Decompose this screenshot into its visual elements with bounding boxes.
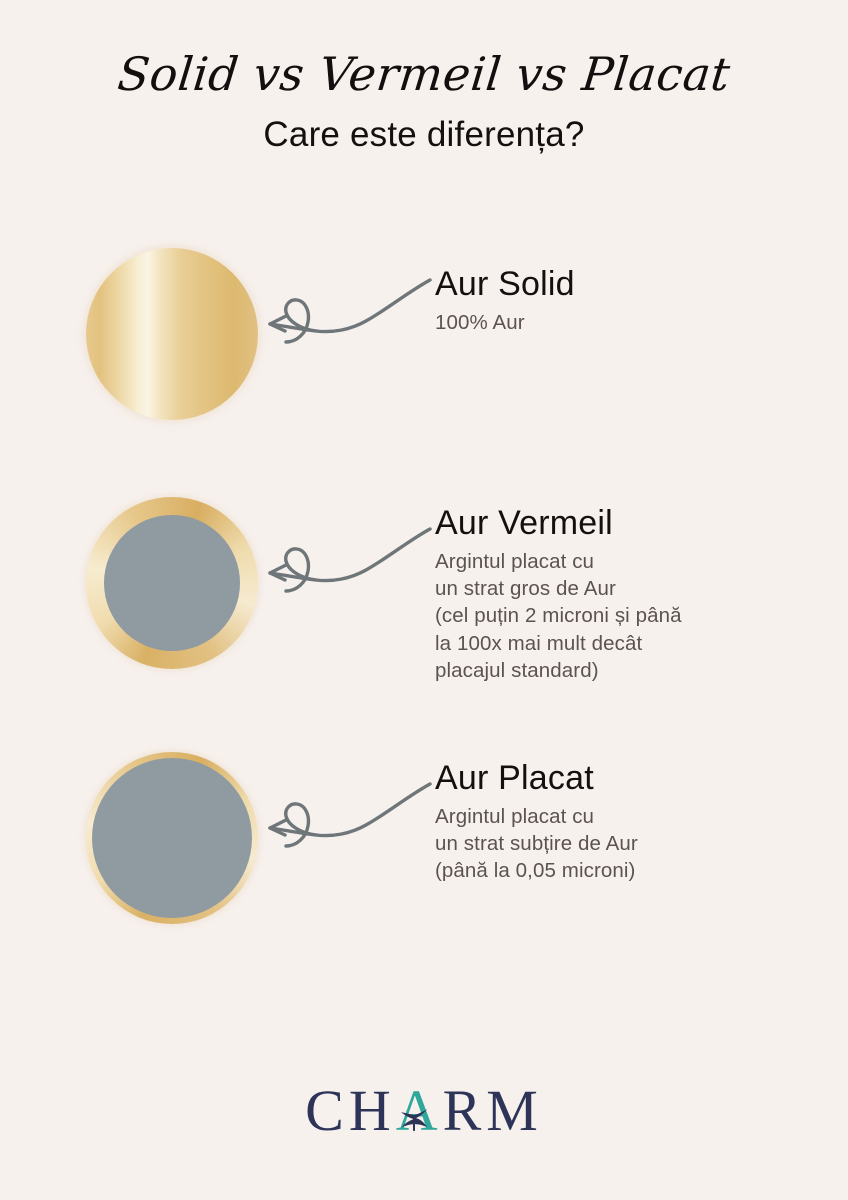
desc-line: un strat gros de Aur <box>435 575 835 602</box>
item-heading-placat: Aur Placat <box>435 760 835 797</box>
item-heading-vermeil: Aur Vermeil <box>435 505 835 542</box>
desc-line: 100% Aur <box>435 309 835 336</box>
thin-gold-ring-disc <box>86 752 258 924</box>
poster-header: Solid vs Vermeil vs Placat Care este dif… <box>0 48 848 155</box>
brand-logo: CHARM <box>0 1082 848 1140</box>
page-subtitle: Care este diferența? <box>0 115 848 155</box>
logo-mark: CHARM <box>305 1082 543 1140</box>
item-desc-placat: Argintul placat cu un strat subțire de A… <box>435 803 835 884</box>
item-desc-vermeil: Argintul placat cu un strat gros de Aur … <box>435 548 835 683</box>
silver-core-graphic <box>92 758 252 918</box>
infographic-poster: Solid vs Vermeil vs Placat Care este dif… <box>0 0 848 1200</box>
item-heading-solid: Aur Solid <box>435 266 835 303</box>
solid-text-block: Aur Solid 100% Aur <box>435 266 835 336</box>
logo-letter-c: C <box>305 1078 349 1143</box>
desc-line: la 100x mai mult decât <box>435 630 835 657</box>
desc-line: (cel puțin 2 microni și până <box>435 602 835 629</box>
gold-ring-graphic <box>86 497 258 669</box>
page-title: Solid vs Vermeil vs Placat <box>0 48 848 101</box>
desc-line: placajul standard) <box>435 657 835 684</box>
logo-letter-a: A <box>396 1078 443 1143</box>
thick-gold-ring-disc <box>86 497 258 669</box>
comparison-row-vermeil: Aur Vermeil Argintul placat cu un strat … <box>0 487 848 687</box>
gold-disc-graphic <box>86 248 258 420</box>
placat-text-block: Aur Placat Argintul placat cu un strat s… <box>435 760 835 885</box>
desc-line: un strat subțire de Aur <box>435 830 835 857</box>
logo-letter-h: H <box>349 1078 396 1143</box>
curved-arrow-icon <box>258 266 438 371</box>
vermeil-text-block: Aur Vermeil Argintul placat cu un strat … <box>435 505 835 684</box>
solid-gold-disc <box>86 248 258 420</box>
logo-letter-m: M <box>486 1078 543 1143</box>
comparison-row-placat: Aur Placat Argintul placat cu un strat s… <box>0 742 848 942</box>
desc-line: Argintul placat cu <box>435 803 835 830</box>
gold-ring-graphic <box>86 752 258 924</box>
item-desc-solid: 100% Aur <box>435 309 835 336</box>
curved-arrow-icon <box>258 515 438 620</box>
desc-line: (până la 0,05 microni) <box>435 857 835 884</box>
comparison-row-solid: Aur Solid 100% Aur <box>0 238 848 438</box>
logo-letter-r: R <box>443 1078 487 1143</box>
logo-wordmark: CHARM <box>305 1078 543 1143</box>
silver-core-graphic <box>104 515 240 651</box>
curved-arrow-icon <box>258 770 438 875</box>
desc-line: Argintul placat cu <box>435 548 835 575</box>
